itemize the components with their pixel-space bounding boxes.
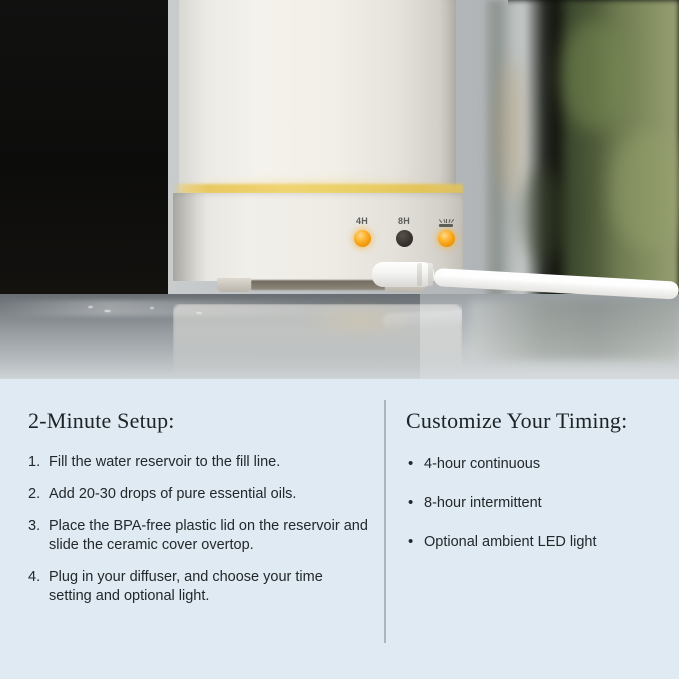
diffuser-base-gap — [251, 280, 385, 290]
background-dark-cabinet — [0, 0, 176, 300]
step-number: 1. — [28, 453, 40, 472]
timing-column: Customize Your Timing: • 4-hour continuo… — [406, 379, 656, 572]
8h-timer-button[interactable]: 8H — [387, 216, 421, 247]
usb-plug-ring — [417, 263, 422, 286]
reflection-window — [470, 300, 679, 360]
timing-option-text: 4-hour continuous — [424, 456, 540, 472]
step-number: 4. — [28, 568, 40, 587]
list-item: 2. Add 20-30 drops of pure essential oil… — [28, 485, 368, 504]
diffuser-base-shadow — [173, 193, 207, 281]
step-text: Place the BPA-free plastic lid on the re… — [49, 518, 368, 553]
list-item: 1. Fill the water reservoir to the fill … — [28, 453, 368, 472]
diffuser-ceramic-cover — [179, 0, 456, 193]
infographic-page: 4H 8H — [0, 0, 679, 679]
countertop-speck — [150, 307, 154, 309]
8h-timer-label: 8H — [387, 216, 421, 227]
diffuser-control-panel: 4H 8H — [345, 216, 465, 260]
setup-steps-list: 1. Fill the water reservoir to the fill … — [28, 434, 368, 606]
countertop-speck — [88, 306, 93, 308]
4h-timer-button[interactable]: 4H — [345, 216, 379, 247]
foliage-blur — [520, 170, 570, 260]
usb-cable — [372, 258, 679, 304]
diffuser-foot — [217, 278, 251, 292]
led-indicator-light[interactable] — [438, 230, 455, 247]
8h-indicator-light[interactable] — [396, 230, 413, 247]
list-item: 4. Plug in your diffuser, and choose you… — [28, 568, 368, 606]
list-item: • 8-hour intermittent — [406, 494, 656, 513]
column-divider — [384, 400, 386, 643]
led-light-button[interactable] — [429, 216, 463, 247]
bullet-glyph: • — [408, 493, 413, 512]
timing-option-text: Optional ambient LED light — [424, 534, 597, 550]
usb-plug — [372, 262, 434, 287]
step-number: 3. — [28, 517, 40, 536]
usb-plug-ring — [428, 263, 433, 286]
setup-column: 2-Minute Setup: 1. Fill the water reserv… — [28, 379, 368, 619]
foliage-blur — [560, 20, 630, 130]
bullet-glyph: • — [408, 454, 413, 473]
list-item: 3. Place the BPA-free plastic lid on the… — [28, 517, 368, 555]
window-frame-blur — [498, 60, 524, 200]
step-number: 2. — [28, 485, 40, 504]
timing-options-list: • 4-hour continuous • 8-hour intermitten… — [406, 434, 656, 552]
list-item: • Optional ambient LED light — [406, 533, 656, 552]
product-photo: 4H 8H — [0, 0, 679, 379]
instructions-panel: 2-Minute Setup: 1. Fill the water reserv… — [0, 379, 679, 679]
led-light-label — [429, 216, 463, 227]
bullet-glyph: • — [408, 532, 413, 551]
list-item: • 4-hour continuous — [406, 455, 656, 474]
step-text: Plug in your diffuser, and choose your t… — [49, 569, 323, 604]
timing-heading: Customize Your Timing: — [406, 379, 656, 434]
light-icon — [437, 216, 455, 227]
setup-heading: 2-Minute Setup: — [28, 379, 368, 434]
step-text: Add 20-30 drops of pure essential oils. — [49, 486, 296, 502]
timing-option-text: 8-hour intermittent — [424, 495, 542, 511]
4h-indicator-light[interactable] — [354, 230, 371, 247]
countertop-speck — [104, 310, 111, 312]
step-text: Fill the water reservoir to the fill lin… — [49, 454, 280, 470]
4h-timer-label: 4H — [345, 216, 379, 227]
diffuser-reflection — [173, 304, 462, 376]
